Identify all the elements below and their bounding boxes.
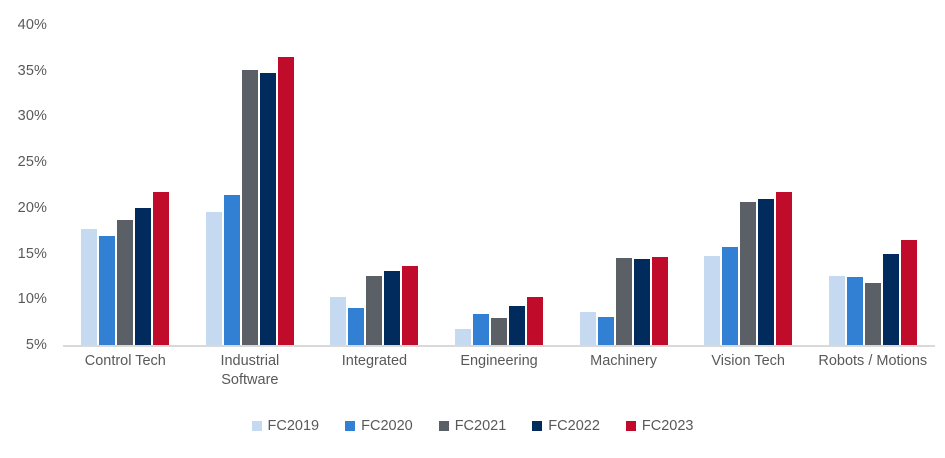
bar[interactable] [242,70,258,345]
legend-item[interactable]: FC2021 [439,418,507,434]
bar-group [810,10,935,345]
bar[interactable] [153,192,169,345]
x-axis-tick-label: Industrial Software [188,352,313,390]
bar[interactable] [491,318,507,345]
y-axis-tick-label: 15% [18,246,47,262]
y-axis-tick-label: 5% [26,337,47,353]
bar[interactable] [260,73,276,345]
bar-group-bars [437,10,562,345]
x-axis-tick-label: Integrated [312,352,437,390]
bar-group [63,10,188,345]
bar-group-bars [312,10,437,345]
bar[interactable] [616,258,632,345]
legend-swatch-icon [252,421,262,431]
bar-group [561,10,686,345]
bar[interactable] [278,57,294,345]
bar[interactable] [366,276,382,345]
bar[interactable] [206,212,222,345]
bar-group-bars [188,10,313,345]
chart-legend: FC2019FC2020FC2021FC2022FC2023 [0,418,945,434]
bar[interactable] [455,329,471,345]
bar[interactable] [847,277,863,345]
legend-item[interactable]: FC2023 [626,418,694,434]
bar[interactable] [81,229,97,345]
legend-label: FC2020 [361,418,413,434]
bar[interactable] [330,297,346,345]
y-axis-tick-label: 20% [18,200,47,216]
x-axis: Control TechIndustrial SoftwareIntegrate… [63,352,935,390]
y-axis-tick-label: 25% [18,154,47,170]
bar[interactable] [473,314,489,345]
legend-label: FC2023 [642,418,694,434]
x-axis-tick-label: Engineering [437,352,562,390]
bar[interactable] [348,308,364,345]
x-axis-baseline [63,345,935,347]
bar[interactable] [580,312,596,345]
bar-group [188,10,313,345]
bar[interactable] [402,266,418,345]
bar[interactable] [527,297,543,345]
bar-group-bars [63,10,188,345]
legend-item[interactable]: FC2019 [252,418,320,434]
bar[interactable] [509,306,525,345]
y-axis-tick-label: 30% [18,108,47,124]
y-axis-tick-label: 40% [18,17,47,33]
y-axis-tick-label: 10% [18,291,47,307]
bar[interactable] [740,202,756,345]
bar[interactable] [634,259,650,345]
bar[interactable] [117,220,133,345]
bar[interactable] [384,271,400,345]
legend-swatch-icon [345,421,355,431]
x-axis-tick-label: Robots / Motions [810,352,935,390]
x-axis-tick-label: Vision Tech [686,352,811,390]
bar[interactable] [99,236,115,345]
bar-group-bars [561,10,686,345]
bar-group [312,10,437,345]
legend-item[interactable]: FC2020 [345,418,413,434]
legend-label: FC2022 [548,418,600,434]
bar[interactable] [829,276,845,345]
y-axis-tick-label: 35% [18,63,47,79]
bar[interactable] [901,240,917,345]
x-axis-tick-label: Machinery [561,352,686,390]
legend-label: FC2021 [455,418,507,434]
legend-swatch-icon [439,421,449,431]
legend-item[interactable]: FC2022 [532,418,600,434]
bar[interactable] [652,257,668,345]
x-axis-tick-label: Control Tech [63,352,188,390]
bar[interactable] [865,283,881,345]
bar-group-bars [686,10,811,345]
bar[interactable] [224,195,240,345]
bar[interactable] [758,199,774,345]
legend-label: FC2019 [268,418,320,434]
bar[interactable] [135,208,151,345]
bar[interactable] [598,317,614,345]
bar[interactable] [883,254,899,345]
bar[interactable] [776,192,792,345]
bar-group [437,10,562,345]
bar[interactable] [704,256,720,345]
bar-chart: 40%35%30%25%20%15%10%5% Control TechIndu… [0,0,945,458]
y-axis: 40%35%30%25%20%15%10%5% [0,10,55,350]
legend-swatch-icon [532,421,542,431]
bar-group [686,10,811,345]
bar-group-bars [810,10,935,345]
plot-area [63,10,935,345]
bar[interactable] [722,247,738,345]
legend-swatch-icon [626,421,636,431]
